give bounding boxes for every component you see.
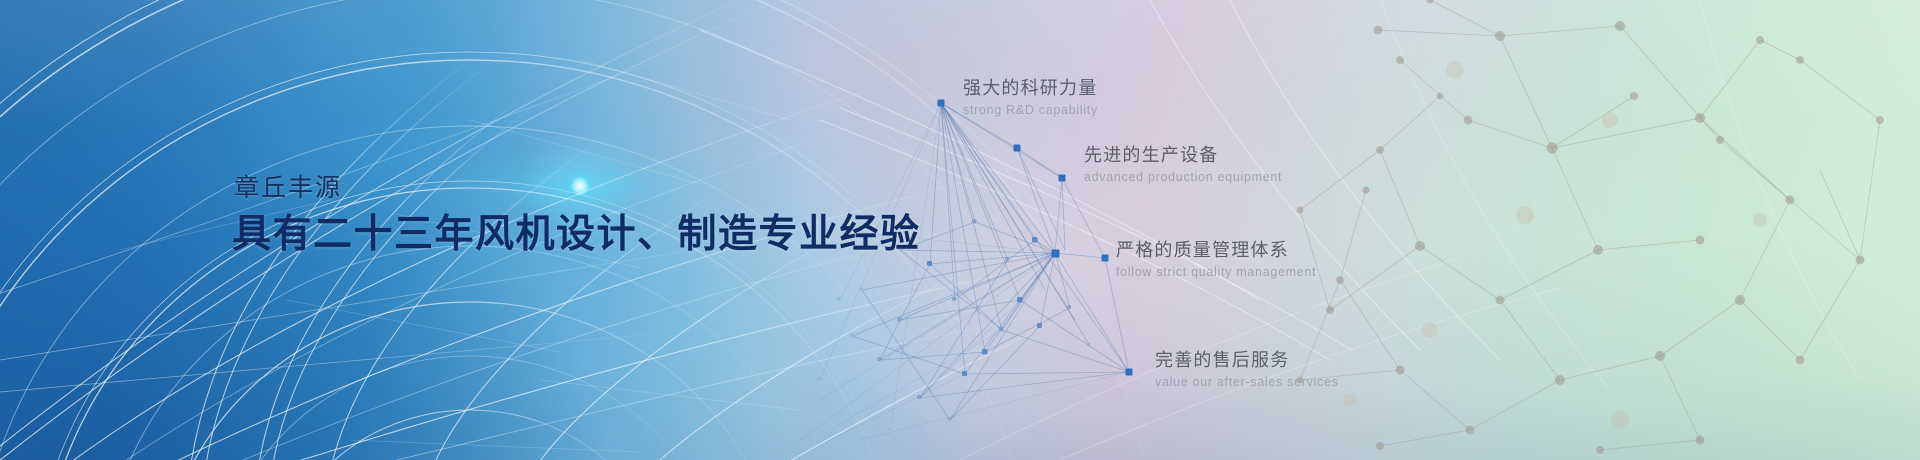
feature-4-cn: 完善的售后服务 [1155,348,1339,372]
headline-block: 章丘丰源 具有二十三年风机设计、制造专业经验 [232,176,921,254]
feature-2-cn: 先进的生产设备 [1084,143,1282,167]
feature-2-en: advanced production equipment [1084,169,1282,187]
feature-4-en: value our after-sales services [1155,374,1339,392]
brand-name: 章丘丰源 [234,176,921,201]
feature-label-1: 强大的科研力量 strong R&D capability [963,76,1098,120]
feature-1-en: strong R&D capability [963,102,1098,120]
feature-label-3: 严格的质量管理体系 follow strict quality manageme… [1116,238,1316,282]
feature-3-en: follow strict quality management [1116,264,1316,282]
feature-3-cn: 严格的质量管理体系 [1116,238,1316,262]
hero-banner: 章丘丰源 具有二十三年风机设计、制造专业经验 强大的科研力量 strong R&… [0,0,1920,460]
page-title: 具有二十三年风机设计、制造专业经验 [232,215,921,254]
feature-1-cn: 强大的科研力量 [963,76,1098,100]
feature-label-4: 完善的售后服务 value our after-sales services [1155,348,1339,392]
feature-label-2: 先进的生产设备 advanced production equipment [1084,143,1282,187]
